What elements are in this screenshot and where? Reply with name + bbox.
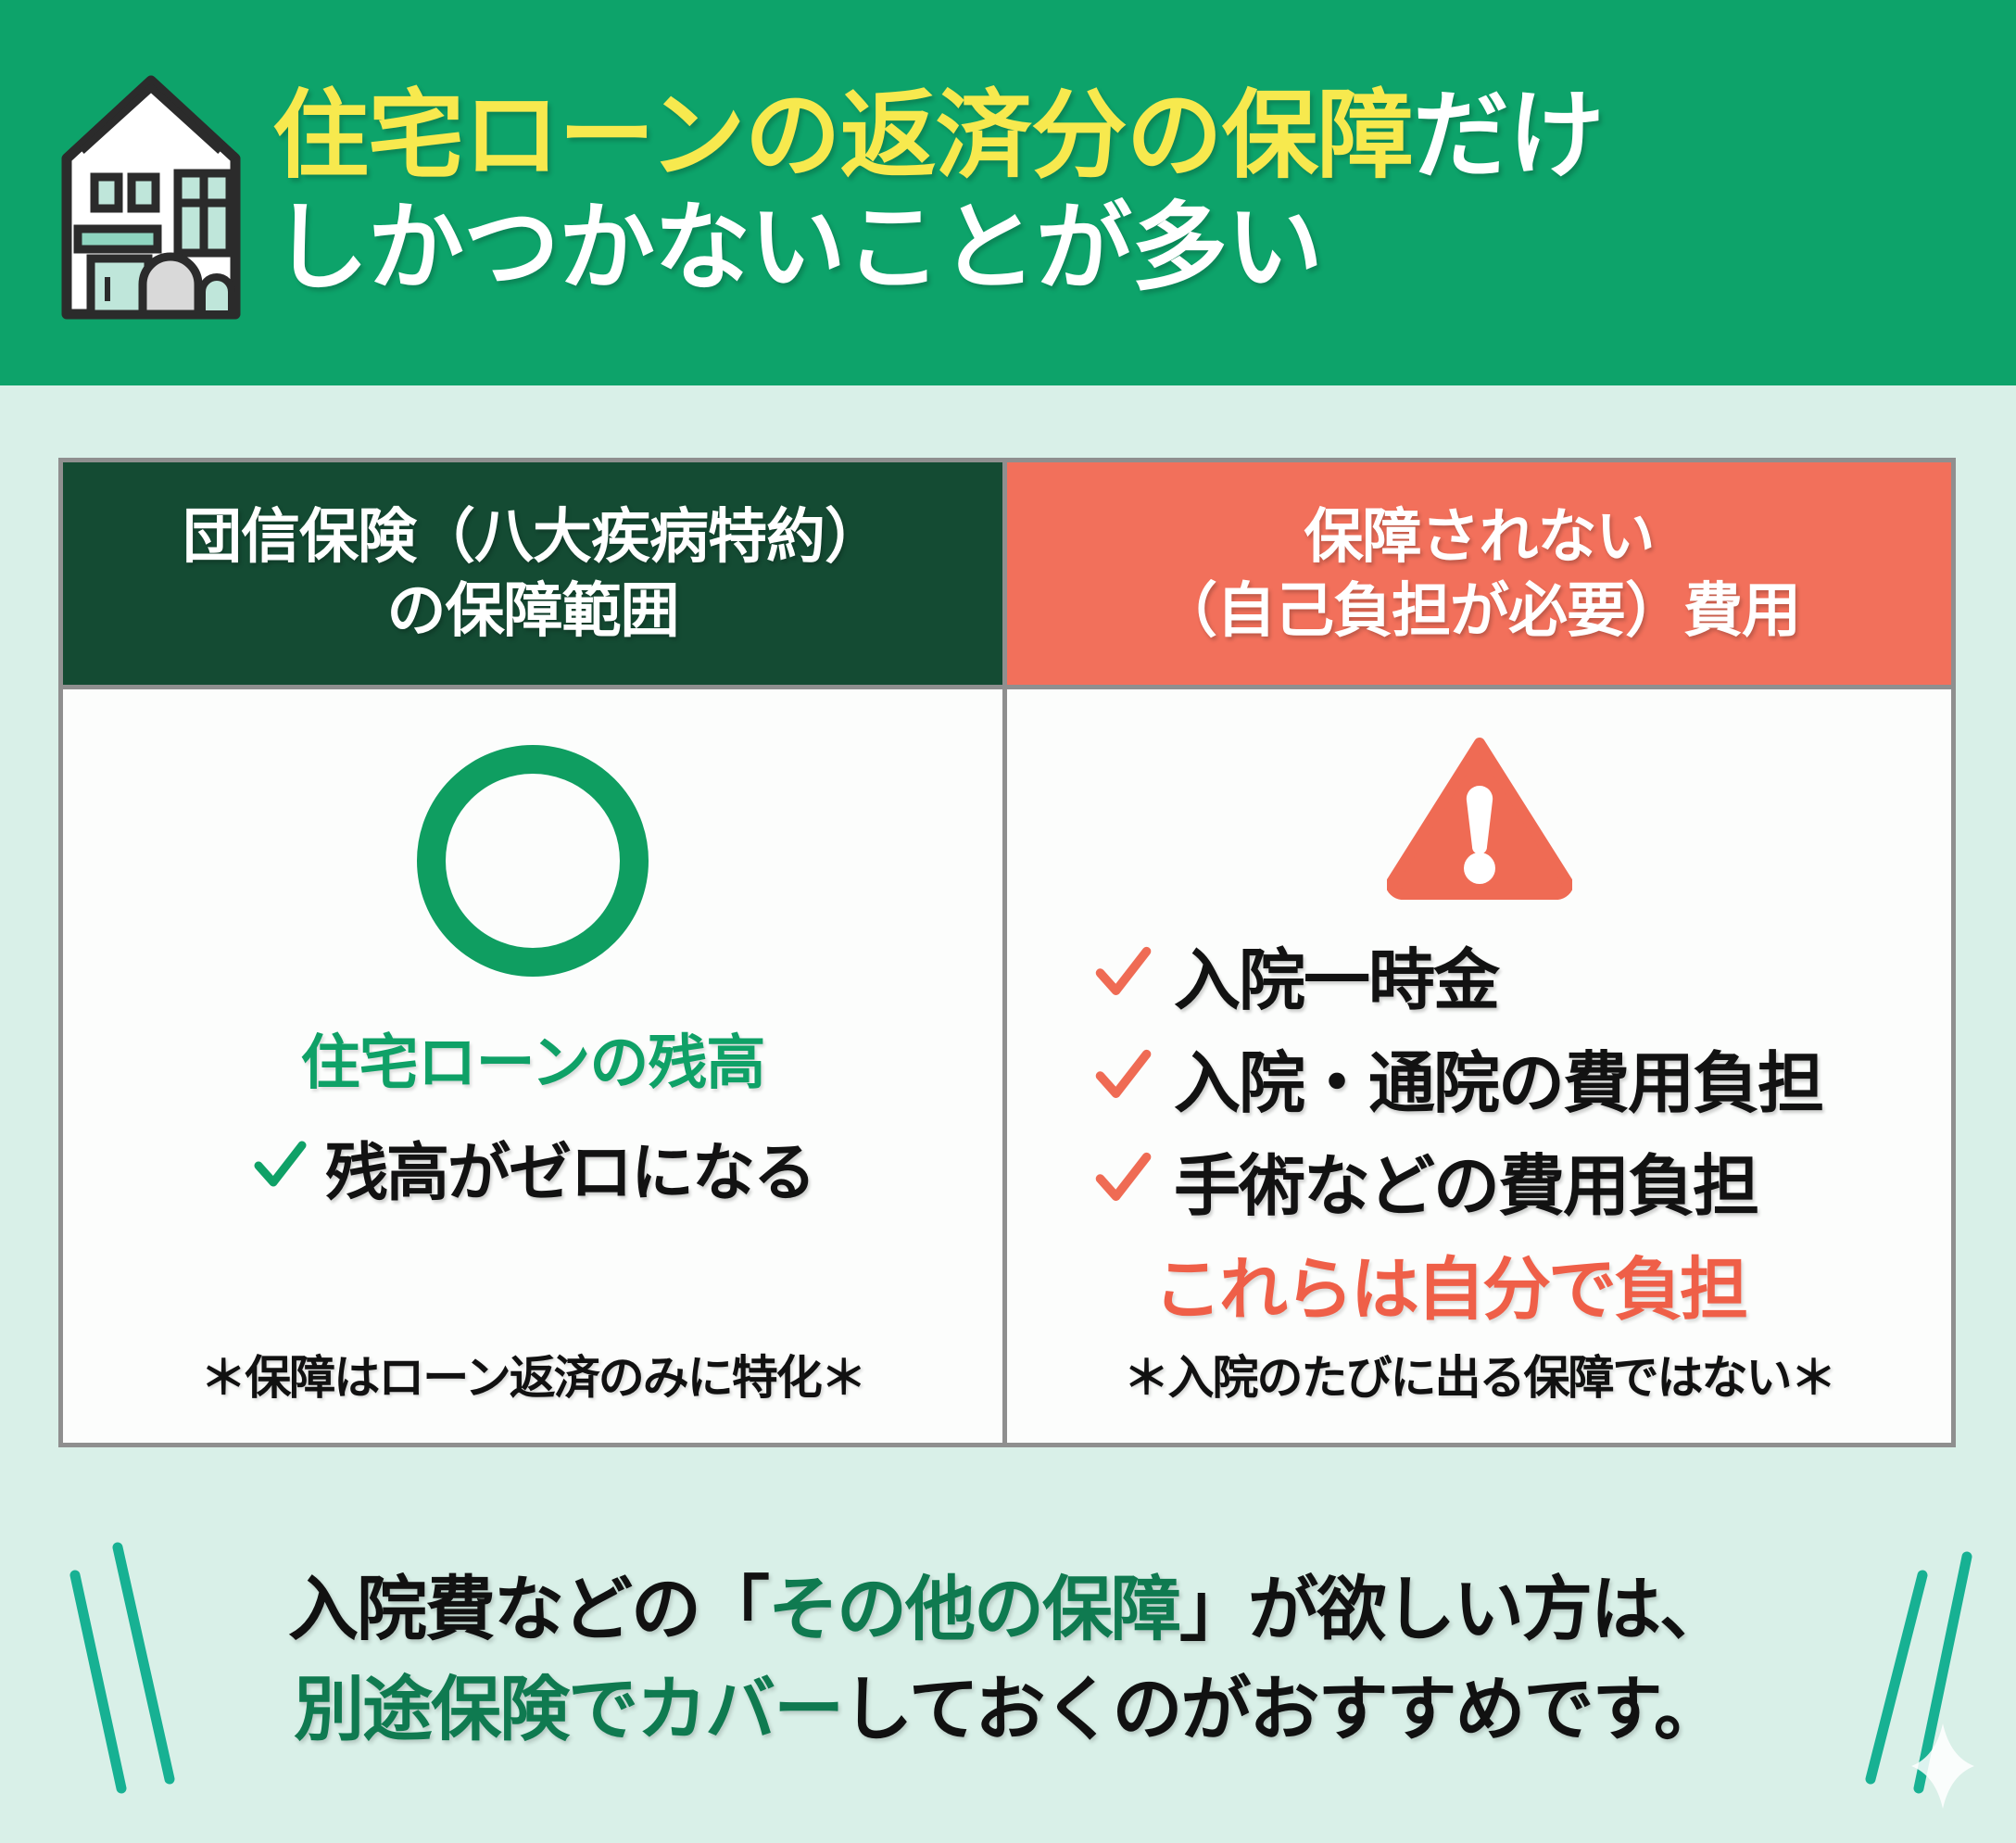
banner-line-1-highlight: 住宅ローンの返済分の保障: [272, 82, 1413, 190]
house-icon: [54, 58, 248, 327]
circle-ring-icon: [417, 745, 649, 977]
check-icon: [251, 1136, 309, 1198]
footer-callout: 入院費などの「その他の保障」が欲しい方は、 別途保険でカバーしておくのがおすすめ…: [0, 1483, 2016, 1838]
list-item-label: 手術などの費用負担: [1174, 1131, 1758, 1229]
check-icon: [1092, 941, 1153, 1007]
check-icon: [1092, 1044, 1153, 1110]
table-header-covered-line2: の保障範囲: [183, 574, 883, 648]
footer-text: 入院費などの「その他の保障」が欲しい方は、 別途保険でカバーしておくのがおすすめ…: [288, 1560, 1728, 1761]
footer-line-1: 入院費などの「その他の保障」が欲しい方は、: [288, 1560, 1728, 1660]
covered-note: ＊保障はローン返済のみに特化＊: [200, 1341, 865, 1407]
footer-line-1-highlight: その他の保障: [768, 1571, 1179, 1649]
table-cell-not-covered: 入院一時金 入院・通院の費用負担 手術などの費用負担 これらは自分で負担 ＊入院…: [1007, 689, 1951, 1443]
list-item: 残高がゼロになる: [251, 1121, 814, 1213]
table-header-covered-line1: 団信保険（八大疾病特約）: [183, 499, 883, 574]
check-icon: [1092, 1147, 1153, 1213]
footer-line-1-a: 入院費などの「: [288, 1571, 768, 1649]
table-header-not-covered: 保障されない （自己負担が必要）費用: [1007, 462, 1951, 689]
banner-line-2: しかつかないことが多い: [272, 193, 1604, 305]
table-cell-covered: 住宅ローンの残高 残高がゼロになる ＊保障はローン返済のみに特化＊: [63, 689, 1007, 1443]
table-header-covered: 団信保険（八大疾病特約） の保障範囲: [63, 462, 1007, 689]
warning-triangle-icon: [1387, 738, 1572, 900]
footer-line-2: 別途保険でカバーしておくのがおすすめです。: [288, 1660, 1728, 1761]
footer-line-2-b: しておくのがおすすめです。: [842, 1671, 1722, 1749]
covered-highlight-text: 住宅ローンの残高: [301, 1016, 765, 1101]
double-slash-decoration-right: [1854, 1483, 1993, 1838]
table-header-not-covered-line2: （自己負担が必要）費用: [1158, 574, 1800, 648]
double-slash-decoration-left: [51, 1483, 190, 1838]
not-covered-emphasis: これらは自分で負担: [1153, 1234, 1951, 1333]
list-item-label: 入院一時金: [1174, 926, 1498, 1023]
header-banner: 住宅ローンの返済分の保障だけ しかつかないことが多い: [0, 0, 2016, 385]
comparison-table: 団信保険（八大疾病特約） の保障範囲 保障されない （自己負担が必要）費用 住宅…: [58, 458, 1956, 1447]
banner-line-1-rest: だけ: [1413, 82, 1604, 190]
footer-line-1-c: 」が欲しい方は、: [1179, 1571, 1728, 1649]
list-item-label: 入院・通院の費用負担: [1174, 1029, 1822, 1126]
page-title: 住宅ローンの返済分の保障だけ しかつかないことが多い: [272, 81, 1604, 304]
table-header-not-covered-line1: 保障されない: [1158, 499, 1800, 574]
banner-line-1: 住宅ローンの返済分の保障だけ: [272, 81, 1604, 193]
list-item-label: 残高がゼロになる: [325, 1121, 814, 1213]
footer-line-2-highlight: 別途保険でカバー: [294, 1671, 842, 1749]
not-covered-list: 入院一時金 入院・通院の費用負担 手術などの費用負担 これらは自分で負担: [1007, 920, 1951, 1333]
list-item: 入院一時金: [1092, 926, 1951, 1023]
not-covered-note: ＊入院のたびに出る保障ではない＊: [1124, 1341, 1835, 1407]
list-item: 手術などの費用負担: [1092, 1131, 1951, 1229]
list-item: 入院・通院の費用負担: [1092, 1029, 1951, 1126]
